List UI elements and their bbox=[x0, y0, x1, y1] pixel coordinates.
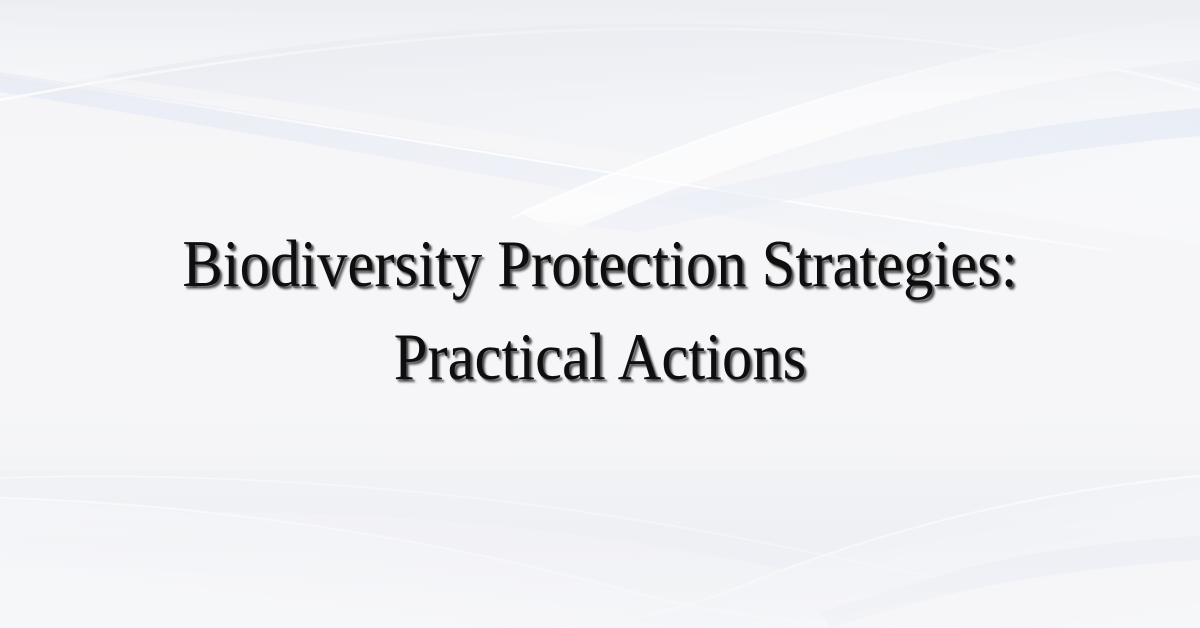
title-container: Biodiversity Protection Strategies: Prac… bbox=[0, 0, 1200, 628]
slide-title: Biodiversity Protection Strategies: Prac… bbox=[138, 218, 1061, 404]
title-slide: Biodiversity Protection Strategies: Prac… bbox=[0, 0, 1200, 628]
